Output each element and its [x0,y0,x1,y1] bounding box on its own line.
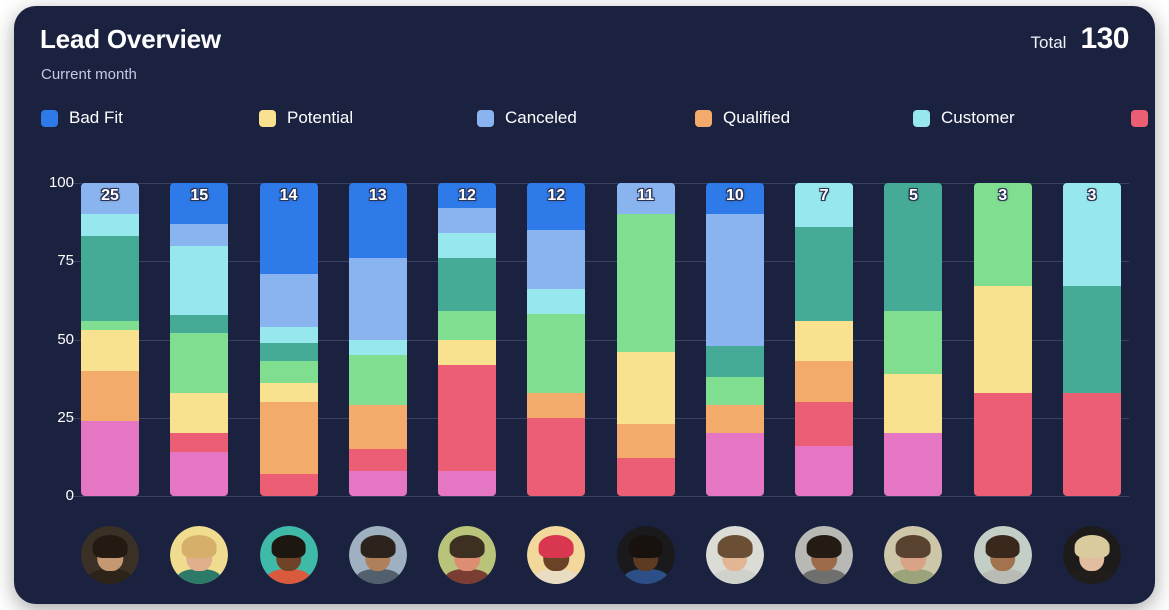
legend-swatch-icon [41,110,58,127]
bar-segment-not-interested[interactable] [527,314,585,392]
bar-segment-bad-fit[interactable] [260,183,318,274]
bar-segment-canceled[interactable] [170,224,228,246]
lead-overview-card: Lead Overview Current month Total 130 Ba… [14,6,1155,604]
bar-segment-not-interested[interactable] [974,183,1032,286]
legend-label: Customer [941,108,1015,128]
bar-segment-canceled[interactable] [706,214,764,345]
bar-segment-trial[interactable] [1063,393,1121,496]
y-axis-tick-label: 0 [14,487,74,504]
bar-segment-potential[interactable] [170,393,228,434]
legend-swatch-icon [1131,110,1148,127]
bar-segment-customer[interactable] [349,340,407,356]
avatar-10[interactable] [884,526,942,584]
bar-segment-potential[interactable] [617,352,675,424]
bar-segment-potential[interactable] [260,383,318,402]
y-axis-tick-label: 25 [14,409,74,426]
legend-swatch-icon [695,110,712,127]
avatar-1[interactable] [81,526,139,584]
bar-segment-not-interested[interactable] [260,361,318,383]
legend-item-bad-fit[interactable]: Bad Fit [41,102,259,134]
avatar-12[interactable] [1063,526,1121,584]
bar-segment-canceled[interactable] [260,274,318,327]
bar-segment-interested[interactable] [706,346,764,377]
bar-segment-potential[interactable] [81,330,139,371]
total-label: Total [1031,33,1067,53]
total-summary: Total 130 [1031,22,1129,56]
bar-segment-trial[interactable] [617,458,675,496]
bar-segment-bad-fit[interactable] [527,183,585,230]
avatar-hair [271,535,306,558]
stacked-bar[interactable] [1063,183,1121,496]
stacked-bar[interactable] [170,183,228,496]
avatar-8[interactable] [706,526,764,584]
bar-column[interactable]: 7 [795,183,853,496]
legend-item-customer[interactable]: Customer [913,102,1131,134]
bar-segment-not-interested[interactable] [617,214,675,352]
legend-item-potential[interactable]: Potential [259,102,477,134]
avatar-5[interactable] [438,526,496,584]
bar-segment-trial-expired[interactable] [884,433,942,496]
avatar-hair [450,535,485,558]
avatar-row [81,524,1121,586]
bar-segment-qualified[interactable] [527,393,585,418]
card-header: Lead Overview Current month Total 130 [14,6,1155,98]
legend-item-canceled[interactable]: Canceled [477,102,695,134]
bar-segment-interested[interactable] [1063,286,1121,392]
avatar-9[interactable] [795,526,853,584]
bar-segment-trial-expired[interactable] [438,471,496,496]
bar-segment-interested[interactable] [438,258,496,311]
y-axis-tick-label: 100 [14,174,74,191]
stacked-bar[interactable] [260,183,318,496]
bar-segment-qualified[interactable] [706,405,764,433]
bar-segment-not-interested[interactable] [884,311,942,374]
stacked-bar[interactable] [884,183,942,496]
stacked-bar[interactable] [795,183,853,496]
bar-segment-trial[interactable] [438,365,496,471]
bar-segment-bad-fit[interactable] [170,183,228,224]
gridline [66,496,1129,497]
stacked-bar[interactable] [438,183,496,496]
avatar-2[interactable] [170,526,228,584]
bar-segment-trial[interactable] [974,393,1032,496]
bar-segment-trial-expired[interactable] [81,421,139,496]
avatar-hair [182,535,217,558]
avatar-hair [539,535,574,558]
bar-segment-interested[interactable] [795,227,853,321]
bar-segment-canceled[interactable] [438,208,496,233]
avatar-3[interactable] [260,526,318,584]
bar-segment-not-interested[interactable] [81,321,139,330]
bar-segment-qualified[interactable] [260,402,318,474]
avatar-hair [807,535,842,558]
bar-column[interactable]: 5 [884,183,942,496]
avatar-hair [717,535,752,558]
bar-segment-canceled[interactable] [527,230,585,289]
stacked-bar[interactable] [81,183,139,496]
legend-item-qualified[interactable]: Qualified [695,102,913,134]
avatar-hair [360,535,395,558]
bar-segment-canceled[interactable] [349,258,407,339]
legend-label: Qualified [723,108,790,128]
chart-plot-area: 0255075100 25151413121211107533 [14,174,1155,514]
bar-segment-interested[interactable] [81,236,139,321]
avatar-hair [985,535,1020,558]
legend-label: Potential [287,108,353,128]
bar-segment-trial[interactable] [260,474,318,496]
bar-segment-customer[interactable] [81,214,139,236]
bar-segment-trial[interactable] [349,449,407,471]
bar-group: 25151413121211107533 [81,183,1121,496]
bar-segment-bad-fit[interactable] [349,183,407,258]
page-subtitle: Current month [41,66,137,83]
stacked-bar[interactable] [527,183,585,496]
bar-segment-canceled[interactable] [81,183,139,214]
legend-label: Bad Fit [69,108,123,128]
bar-segment-not-interested[interactable] [438,311,496,339]
bar-segment-not-interested[interactable] [170,333,228,392]
bar-segment-interested[interactable] [884,183,942,311]
avatar-4[interactable] [349,526,407,584]
bar-column[interactable]: 13 [349,183,407,496]
bar-segment-trial[interactable] [795,402,853,446]
bar-segment-not-interested[interactable] [706,377,764,405]
bar-segment-trial[interactable] [170,433,228,452]
bar-segment-interested[interactable] [170,315,228,334]
avatar-6[interactable] [527,526,585,584]
bar-segment-qualified[interactable] [795,361,853,402]
avatar-hair [628,535,663,558]
bar-segment-interested[interactable] [260,343,318,362]
bar-segment-trial-expired[interactable] [349,471,407,496]
avatar-hair [1075,535,1110,558]
bar-segment-qualified[interactable] [81,371,139,421]
legend-item-trial[interactable]: Trial [1131,102,1155,134]
bar-column[interactable]: 3 [974,183,1032,496]
bar-segment-trial-expired[interactable] [706,433,764,496]
bar-segment-trial[interactable] [527,418,585,496]
legend-swatch-icon [477,110,494,127]
bar-segment-not-interested[interactable] [349,355,407,405]
bar-segment-potential[interactable] [884,374,942,433]
y-axis-tick-label: 50 [14,331,74,348]
bar-segment-qualified[interactable] [617,424,675,458]
avatar-hair [93,535,128,558]
stacked-bar[interactable] [617,183,675,496]
bar-segment-bad-fit[interactable] [438,183,496,208]
bar-segment-bad-fit[interactable] [706,183,764,214]
page-title: Lead Overview [40,24,221,55]
bar-segment-customer[interactable] [260,327,318,343]
bar-segment-customer[interactable] [527,289,585,314]
bar-segment-trial-expired[interactable] [795,446,853,496]
legend-swatch-icon [913,110,930,127]
bar-segment-customer[interactable] [438,233,496,258]
bar-segment-trial-expired[interactable] [170,452,228,496]
stacked-bar[interactable] [974,183,1032,496]
avatar-11[interactable] [974,526,1032,584]
legend-label: Canceled [505,108,577,128]
bar-segment-canceled[interactable] [617,183,675,214]
bar-column[interactable]: 25 [81,183,139,496]
bar-segment-potential[interactable] [438,340,496,365]
chart-legend: Bad FitPotentialCanceledQualifiedCustome… [41,102,1131,134]
legend-swatch-icon [259,110,276,127]
y-axis-tick-label: 75 [14,252,74,269]
stacked-bar[interactable] [349,183,407,496]
bar-segment-potential[interactable] [795,321,853,362]
bar-column[interactable]: 3 [1063,183,1121,496]
bar-segment-customer[interactable] [1063,183,1121,286]
bar-segment-potential[interactable] [974,286,1032,392]
avatar-hair [896,535,931,558]
bar-column[interactable]: 11 [617,183,675,496]
avatar-7[interactable] [617,526,675,584]
total-value: 130 [1080,22,1129,56]
stacked-bar[interactable] [706,183,764,496]
bar-column[interactable]: 10 [706,183,764,496]
bar-segment-customer[interactable] [170,246,228,315]
bar-column[interactable]: 12 [527,183,585,496]
bar-segment-qualified[interactable] [349,405,407,449]
bar-column[interactable]: 12 [438,183,496,496]
bar-segment-customer[interactable] [795,183,853,227]
bar-column[interactable]: 14 [260,183,318,496]
bar-column[interactable]: 15 [170,183,228,496]
